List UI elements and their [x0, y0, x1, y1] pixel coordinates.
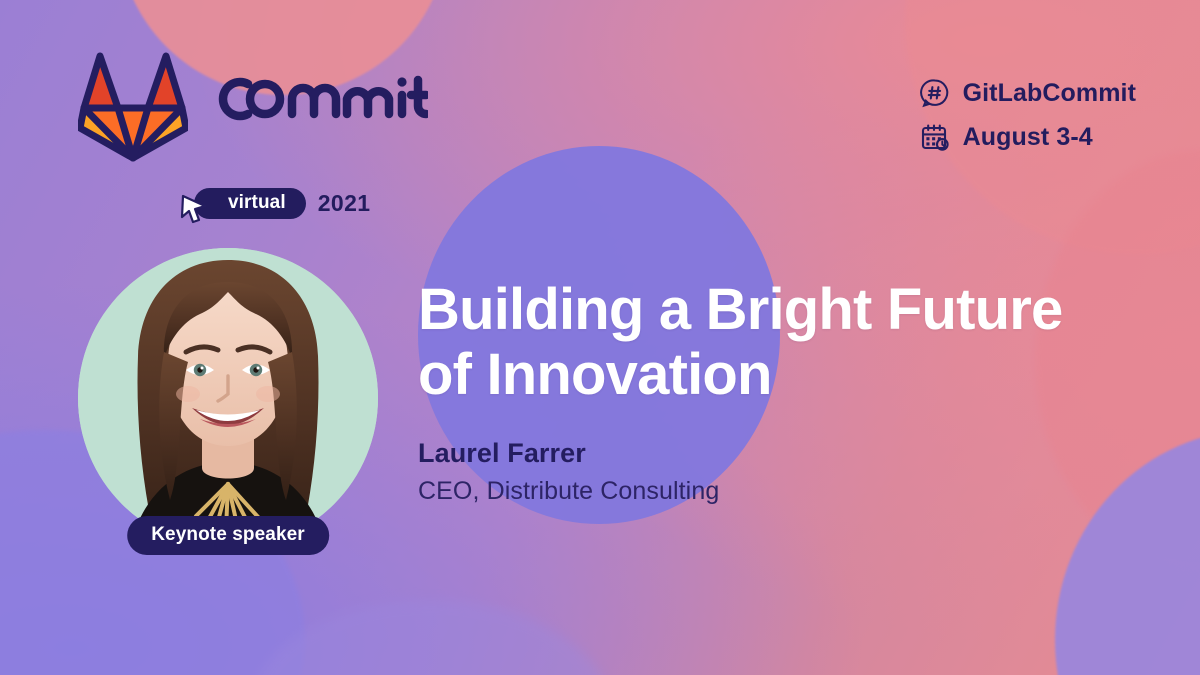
- event-year: 2021: [318, 190, 371, 217]
- commit-wordmark: [202, 68, 428, 130]
- speaker-name: Laurel Farrer: [418, 438, 1118, 469]
- speaker-portrait: [78, 248, 378, 548]
- talk-title-line-1: Building a Bright Future: [418, 278, 1118, 343]
- talk-title: Building a Bright Future of Innovation: [418, 278, 1118, 408]
- keynote-speaker-badge: Keynote speaker: [127, 516, 329, 555]
- calendar-clock-icon: [920, 122, 950, 152]
- cursor-arrow-icon: [178, 193, 208, 225]
- talk-title-line-2: of Innovation: [418, 343, 1118, 408]
- speaker-role: CEO, Distribute Consulting: [418, 477, 1118, 506]
- speaker-photo-wrap: Keynote speaker: [78, 248, 378, 548]
- dates-row: August 3-4: [920, 122, 1136, 152]
- talk-content: Building a Bright Future of Innovation L…: [418, 278, 1118, 506]
- letter-i-dot: [397, 77, 406, 86]
- gitlab-tanuki-icon: [78, 48, 188, 166]
- virtual-year-row: virtual 2021: [194, 188, 371, 219]
- hashtag-speech-bubble-icon: [920, 78, 950, 108]
- speaker-portrait-illustration: [78, 248, 378, 548]
- keynote-slide: virtual 2021 GitLabCommit: [0, 0, 1200, 675]
- dates-label: August 3-4: [963, 123, 1093, 152]
- hashtag-row: GitLabCommit: [920, 78, 1136, 108]
- hashtag-label: GitLabCommit: [963, 79, 1136, 108]
- virtual-badge-label: virtual: [228, 192, 286, 213]
- event-meta: GitLabCommit: [920, 78, 1136, 152]
- background-blob-bottom-mid: [250, 600, 610, 675]
- virtual-badge: virtual: [194, 188, 306, 219]
